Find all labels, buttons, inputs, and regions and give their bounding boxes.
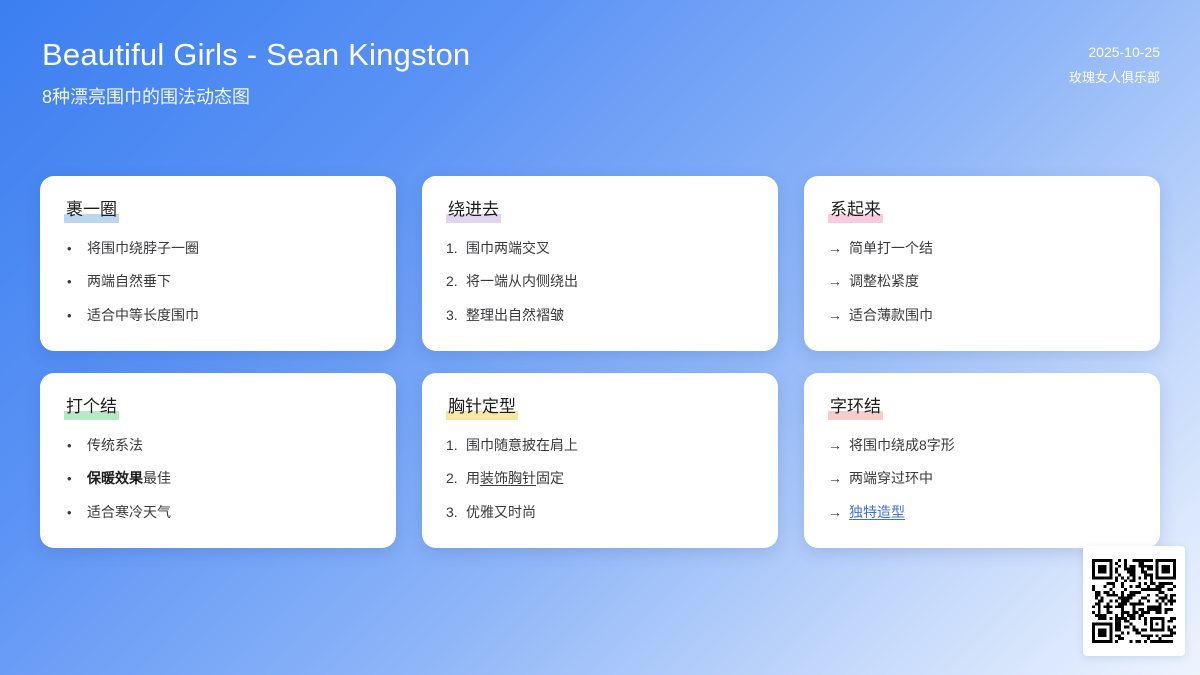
card-list: 1.围巾两端交叉2.将一端从内侧绕出3.整理出自然褶皱: [446, 238, 754, 327]
card: 系起来→简单打一个结→调整松紧度→适合薄款围巾: [804, 176, 1160, 351]
list-item: 3.整理出自然褶皱: [446, 305, 754, 327]
card-list: 1.围巾随意披在肩上2.用装饰胸针固定3.优雅又时尚: [446, 435, 754, 524]
card-heading-text: 系起来: [830, 200, 881, 219]
card-heading: 胸针定型: [446, 395, 518, 419]
arrow-right-icon: →: [828, 238, 842, 260]
card-heading-highlight: 裹一圈: [64, 198, 119, 222]
list-number: 3.: [446, 305, 459, 327]
list-item: •两端自然垂下: [64, 271, 372, 293]
page-subtitle: 8种漂亮围巾的围法动态图: [42, 86, 470, 109]
list-item-text: 适合中等长度围巾: [87, 305, 372, 327]
card-list: →简单打一个结→调整松紧度→适合薄款围巾: [828, 238, 1136, 327]
list-item: 2.将一端从内侧绕出: [446, 271, 754, 293]
list-number: 3.: [446, 502, 459, 524]
card: 裹一圈•将围巾绕脖子一圈•两端自然垂下•适合中等长度围巾: [40, 176, 396, 351]
list-item-text: 围巾两端交叉: [466, 238, 754, 260]
arrow-right-icon: →: [828, 502, 842, 524]
arrow-right-icon: →: [828, 468, 842, 490]
list-item: →将围巾绕成8字形: [828, 435, 1136, 457]
list-item: 3.优雅又时尚: [446, 502, 754, 524]
header-organization: 玫瑰女人俱乐部: [1069, 68, 1160, 88]
list-item-link[interactable]: 独特造型: [849, 504, 905, 520]
header-meta-group: 2025-10-25 玫瑰女人俱乐部: [1069, 34, 1160, 88]
bullet-icon: •: [67, 469, 78, 489]
list-item-text: 独特造型: [849, 502, 1136, 524]
list-item-text: 整理出自然褶皱: [466, 305, 754, 327]
list-number: 1.: [446, 238, 459, 260]
list-item-text: 适合寒冷天气: [87, 502, 372, 524]
card-grid: 裹一圈•将围巾绕脖子一圈•两端自然垂下•适合中等长度围巾绕进去1.围巾两端交叉2…: [40, 176, 1160, 548]
list-item: •适合中等长度围巾: [64, 305, 372, 327]
bullet-icon: •: [67, 239, 78, 259]
card-heading: 打个结: [64, 395, 119, 419]
list-item-text: 将一端从内侧绕出: [466, 271, 754, 293]
card-heading-highlight: 绕进去: [446, 198, 501, 222]
list-item: →简单打一个结: [828, 238, 1136, 260]
card-list: •传统系法•保暖效果最佳•适合寒冷天气: [64, 435, 372, 524]
card-heading: 字环结: [828, 395, 883, 419]
list-item-text: 传统系法: [87, 435, 372, 457]
bullet-icon: •: [67, 272, 78, 292]
list-item: →适合薄款围巾: [828, 305, 1136, 327]
list-number: 2.: [446, 468, 459, 490]
page-title: Beautiful Girls - Sean Kingston: [42, 34, 470, 76]
list-item-rest-text: 固定: [536, 470, 564, 486]
card-list: •将围巾绕脖子一圈•两端自然垂下•适合中等长度围巾: [64, 238, 372, 327]
card-heading-highlight: 字环结: [828, 395, 883, 419]
card: 打个结•传统系法•保暖效果最佳•适合寒冷天气: [40, 373, 396, 548]
list-item: →两端穿过环中: [828, 468, 1136, 490]
list-item-text: 简单打一个结: [849, 238, 1136, 260]
card-heading: 系起来: [828, 198, 883, 222]
list-item-text: 保暖效果最佳: [87, 468, 372, 490]
arrow-right-icon: →: [828, 435, 842, 457]
card: 胸针定型1.围巾随意披在肩上2.用装饰胸针固定3.优雅又时尚: [422, 373, 778, 548]
card-heading: 绕进去: [446, 198, 501, 222]
list-item: 1.围巾两端交叉: [446, 238, 754, 260]
list-item: •将围巾绕脖子一圈: [64, 238, 372, 260]
list-item-text: 围巾随意披在肩上: [466, 435, 754, 457]
list-item: •适合寒冷天气: [64, 502, 372, 524]
list-item-prefix-text: 用: [466, 470, 480, 486]
list-item: →调整松紧度: [828, 271, 1136, 293]
list-item-text: 用装饰胸针固定: [466, 468, 754, 490]
header-date: 2025-10-25: [1088, 42, 1160, 63]
arrow-right-icon: →: [828, 271, 842, 293]
list-item-text: 将围巾绕成8字形: [849, 435, 1136, 457]
header-left-group: Beautiful Girls - Sean Kingston 8种漂亮围巾的围…: [42, 34, 470, 109]
list-item-underlined-text: 装饰胸针: [480, 470, 536, 486]
list-item: 2.用装饰胸针固定: [446, 468, 754, 490]
list-item-bold-text: 保暖效果: [87, 470, 143, 486]
qr-code-icon: [1092, 559, 1176, 643]
bullet-icon: •: [67, 503, 78, 523]
card-list: →将围巾绕成8字形→两端穿过环中→独特造型: [828, 435, 1136, 524]
list-item-rest-text: 最佳: [143, 470, 171, 486]
card-heading-text: 绕进去: [448, 200, 499, 219]
card: 字环结→将围巾绕成8字形→两端穿过环中→独特造型: [804, 373, 1160, 548]
card-heading-text: 字环结: [830, 397, 881, 416]
bullet-icon: •: [67, 306, 78, 326]
card-heading-text: 打个结: [66, 397, 117, 416]
card-heading: 裹一圈: [64, 198, 119, 222]
list-item-text: 适合薄款围巾: [849, 305, 1136, 327]
card-heading-highlight: 打个结: [64, 395, 119, 419]
card-heading-highlight: 胸针定型: [446, 395, 518, 419]
page-header: Beautiful Girls - Sean Kingston 8种漂亮围巾的围…: [0, 0, 1200, 150]
list-item: •保暖效果最佳: [64, 468, 372, 490]
list-number: 1.: [446, 435, 459, 457]
list-item: →独特造型: [828, 502, 1136, 524]
qr-code-container[interactable]: [1083, 546, 1185, 656]
list-item-text: 两端穿过环中: [849, 468, 1136, 490]
list-item-text: 将围巾绕脖子一圈: [87, 238, 372, 260]
list-number: 2.: [446, 271, 459, 293]
list-item: •传统系法: [64, 435, 372, 457]
bullet-icon: •: [67, 436, 78, 456]
list-item-text: 优雅又时尚: [466, 502, 754, 524]
card-heading-highlight: 系起来: [828, 198, 883, 222]
list-item: 1.围巾随意披在肩上: [446, 435, 754, 457]
card-heading-text: 胸针定型: [448, 397, 516, 416]
card: 绕进去1.围巾两端交叉2.将一端从内侧绕出3.整理出自然褶皱: [422, 176, 778, 351]
arrow-right-icon: →: [828, 305, 842, 327]
list-item-text: 两端自然垂下: [87, 271, 372, 293]
list-item-text: 调整松紧度: [849, 271, 1136, 293]
card-heading-text: 裹一圈: [66, 200, 117, 219]
